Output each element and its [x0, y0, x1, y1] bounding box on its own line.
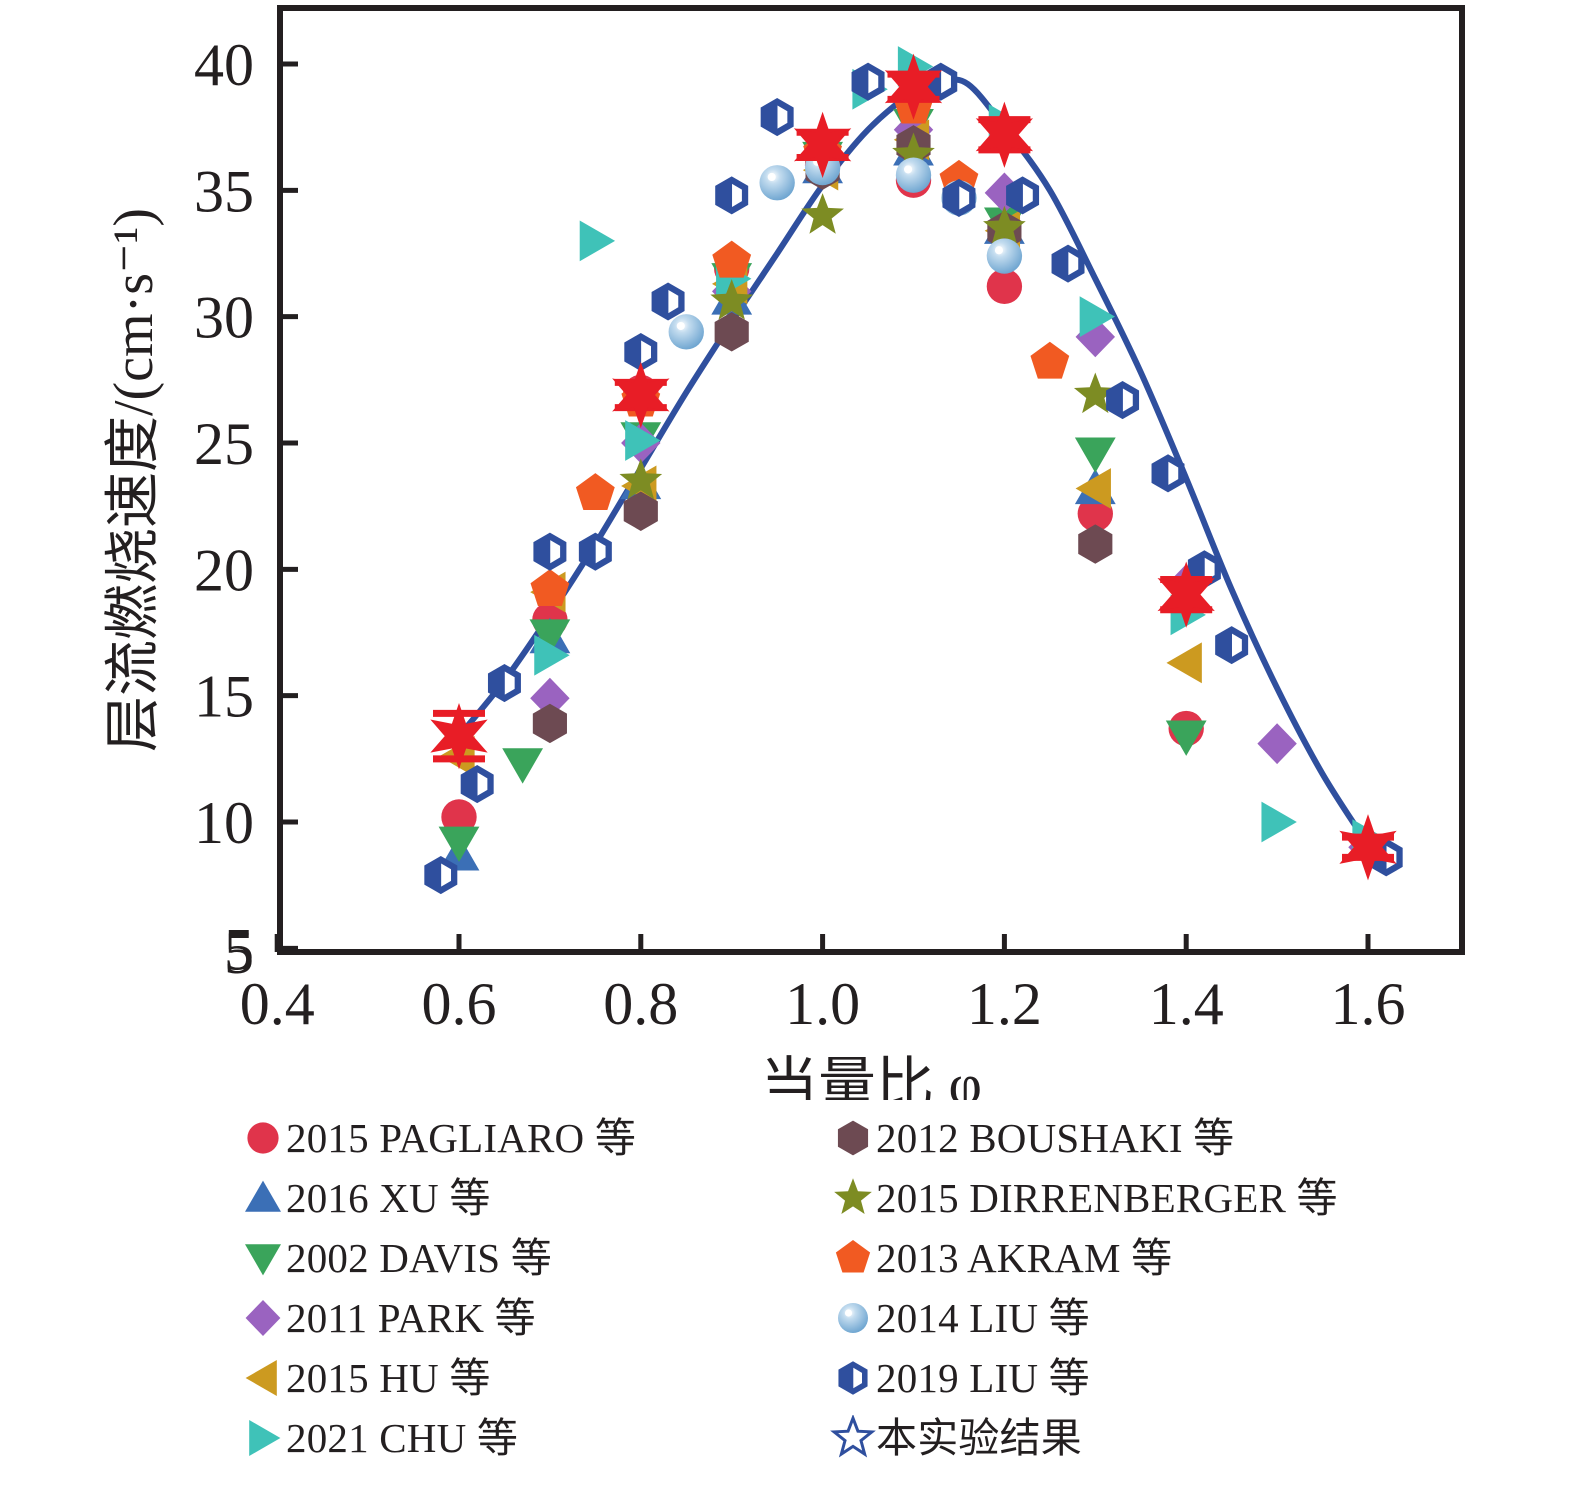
legend-item-2002-davis-等: 2002 DAVIS 等 — [240, 1228, 830, 1288]
pentagon-icon — [830, 1235, 876, 1281]
half-hexagon-body — [761, 98, 794, 136]
data-point-marker — [576, 473, 615, 510]
legend-marker-circle — [247, 1122, 278, 1153]
half-hexagon-body — [1215, 626, 1248, 664]
legend-marker-hexagon — [838, 1121, 868, 1156]
data-point-marker — [580, 220, 615, 261]
chart-legend: 2015 PAGLIARO 等2012 BOUSHAKI 等2016 XU 等2… — [0, 1108, 1575, 1489]
series-8 — [531, 87, 1070, 607]
triangle-left-icon — [240, 1355, 286, 1401]
legend-item-2015-pagliaro-等: 2015 PAGLIARO 等 — [240, 1108, 830, 1168]
legend-marker-star5 — [834, 1178, 872, 1214]
y-tick-label-min: 5 — [224, 920, 254, 986]
legend-item-2016-xu-等: 2016 XU 等 — [240, 1168, 830, 1228]
y-tick-label: 30 — [194, 285, 254, 351]
chart-figure: 0.40.60.81.01.21.41.65101520253035405 当量… — [0, 0, 1575, 1100]
legend-item-label: 2012 BOUSHAKI 等 — [876, 1115, 1234, 1161]
data-point-marker — [759, 165, 794, 200]
legend-item-2015-hu-等: 2015 HU 等 — [240, 1348, 830, 1408]
legend-item-label: 本实验结果 — [876, 1415, 1082, 1461]
data-point-marker — [987, 269, 1022, 304]
legend-item-2012-boushaki-等: 2012 BOUSHAKI 等 — [830, 1108, 1575, 1168]
data-point-marker — [1030, 342, 1069, 379]
x-tick-label: 1.0 — [785, 971, 860, 1037]
legend-marker-triangle-right — [249, 1420, 280, 1456]
legend-item-2013-akram-等: 2013 AKRAM 等 — [830, 1228, 1575, 1288]
experiment-star-marker — [794, 112, 851, 178]
data-point-marker — [1261, 802, 1296, 843]
x-axis-title: 当量比 φ — [760, 1052, 982, 1100]
legend-item-2014-liu-等: 2014 LIU 等 — [830, 1288, 1575, 1348]
half-hexagon-body — [533, 533, 566, 571]
star5-icon — [830, 1175, 876, 1221]
data-point-marker — [1166, 642, 1201, 683]
legend-item-label: 2011 PARK 等 — [286, 1295, 536, 1341]
y-tick-label: 40 — [194, 32, 254, 98]
legend-item-label: 2015 PAGLIARO 等 — [286, 1115, 636, 1161]
sphere-icon — [830, 1295, 876, 1341]
triangle-right-icon — [240, 1415, 286, 1461]
half-hexagon-body — [652, 282, 685, 320]
series-3 — [530, 109, 1388, 867]
data-point-marker — [1257, 723, 1296, 764]
legend-marker-open-star — [834, 1418, 872, 1454]
legend-item-label: 2021 CHU 等 — [286, 1415, 518, 1461]
y-tick-label: 10 — [194, 790, 254, 856]
legend-marker-half-hexagon — [838, 1361, 867, 1395]
y-tick-label: 25 — [194, 411, 254, 477]
legend-item-label: 2002 DAVIS 等 — [286, 1235, 552, 1281]
x-tick-label: 0.6 — [422, 971, 497, 1037]
y-tick-label: 20 — [194, 537, 254, 603]
data-point-marker — [715, 176, 748, 214]
legend-item-label: 2013 AKRAM 等 — [876, 1235, 1172, 1281]
legend-item-label: 2016 XU 等 — [286, 1175, 491, 1221]
data-point-marker — [801, 193, 844, 234]
legend-grid: 2015 PAGLIARO 等2012 BOUSHAKI 等2016 XU 等2… — [240, 1108, 1575, 1468]
legend-item-label: 2014 LIU 等 — [876, 1295, 1090, 1341]
data-point-marker — [669, 314, 704, 349]
diamond-icon — [240, 1295, 286, 1341]
x-tick-label: 1.6 — [1331, 971, 1406, 1037]
legend-marker-triangle-down — [245, 1244, 281, 1275]
open-star-icon — [830, 1415, 876, 1461]
half-hexagon-icon — [830, 1355, 876, 1401]
sphere-highlight — [904, 165, 912, 173]
data-points-layer — [424, 46, 1402, 894]
data-point-marker — [987, 238, 1022, 273]
sphere-highlight — [677, 322, 685, 330]
data-point-marker — [502, 748, 543, 783]
sphere-highlight — [768, 173, 776, 181]
data-point-marker — [712, 241, 751, 278]
data-point-marker — [1215, 626, 1248, 664]
legend-marker-pentagon — [836, 1240, 870, 1273]
series-7 — [619, 133, 1116, 500]
sphere-highlight — [845, 1309, 852, 1316]
legend-item-label: 2019 LIU 等 — [876, 1355, 1090, 1401]
half-hexagon-body — [1106, 381, 1139, 419]
legend-item-label: 2015 DIRRENBERGER 等 — [876, 1175, 1338, 1221]
data-point-marker — [533, 533, 566, 571]
half-hexagon-body — [838, 1361, 867, 1395]
data-point-marker — [896, 157, 931, 192]
laminar-burning-velocity-plot: 0.40.60.81.01.21.41.65101520253035405 当量… — [0, 0, 1575, 1100]
y-tick-label: 35 — [194, 158, 254, 224]
triangle-down-icon — [240, 1235, 286, 1281]
sphere-highlight — [995, 246, 1003, 254]
hexagon-icon — [830, 1115, 876, 1161]
figure-root: 0.40.60.81.01.21.41.65101520253035405 当量… — [0, 0, 1575, 1489]
legend-item-2021-chu-等: 2021 CHU 等 — [240, 1408, 830, 1468]
x-tick-label: 1.4 — [1149, 971, 1224, 1037]
legend-item-2019-liu-等: 2019 LIU 等 — [830, 1348, 1575, 1408]
legend-marker-triangle-left — [246, 1360, 277, 1396]
data-point-marker — [1106, 381, 1139, 419]
data-point-marker — [1078, 524, 1112, 563]
x-tick-label: 0.8 — [603, 971, 678, 1037]
legend-item-本实验结果: 本实验结果 — [830, 1408, 1575, 1468]
data-point-marker — [1075, 437, 1116, 472]
half-hexagon-body — [715, 176, 748, 214]
y-axis-title: 层流燃烧速度/(cm·s⁻¹) — [103, 208, 165, 752]
data-point-marker — [652, 282, 685, 320]
data-point-marker — [533, 704, 567, 743]
legend-item-2015-dirrenberger-等: 2015 DIRRENBERGER 等 — [830, 1168, 1575, 1228]
data-point-marker — [761, 98, 794, 136]
legend-marker-diamond — [246, 1300, 281, 1336]
legend-marker-triangle-up — [245, 1181, 281, 1212]
circle-icon — [240, 1115, 286, 1161]
experiment-star-marker — [612, 362, 669, 428]
legend-item-2011-park-等: 2011 PARK 等 — [240, 1288, 830, 1348]
y-tick-label: 15 — [194, 664, 254, 730]
triangle-up-icon — [240, 1175, 286, 1221]
x-tick-label: 1.2 — [967, 971, 1042, 1037]
data-point-marker — [439, 827, 480, 862]
legend-marker-sphere — [838, 1303, 868, 1333]
legend-item-label: 2015 HU 等 — [286, 1355, 491, 1401]
